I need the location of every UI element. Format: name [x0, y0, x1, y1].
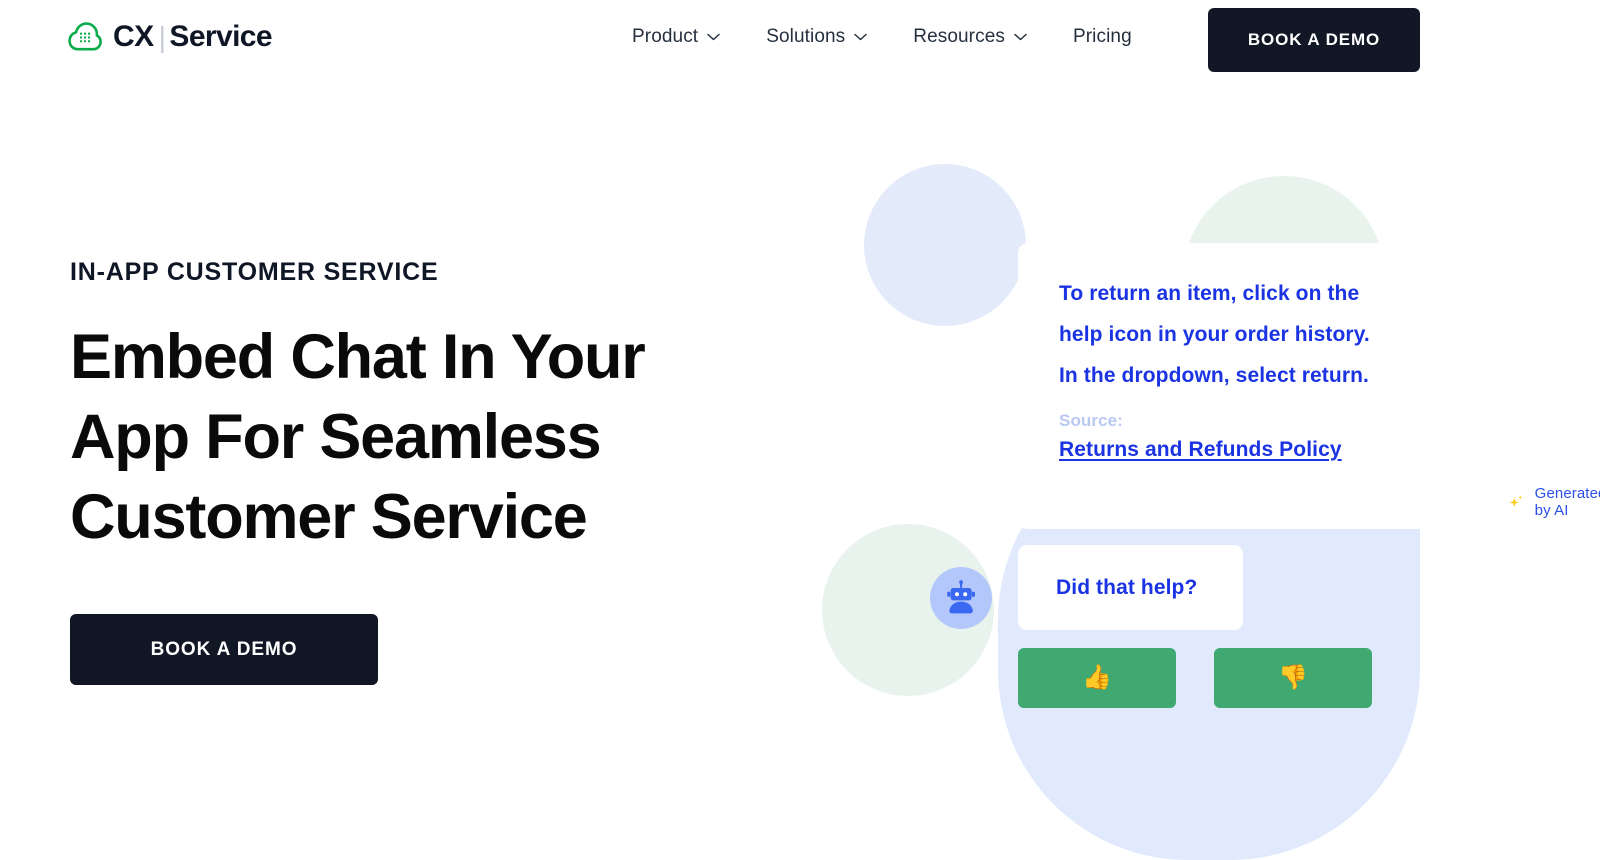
- ai-credit-text: Generated by AI: [1535, 485, 1600, 519]
- chevron-down-icon: [707, 33, 720, 41]
- answer-line-1: To return an item, click on the: [1059, 282, 1359, 305]
- chat-feedback-row: 👍 👎: [1018, 648, 1372, 708]
- thumbs-down-button[interactable]: 👎: [1214, 648, 1372, 708]
- hero-illustration: To return an item, click on the help ico…: [760, 0, 1600, 753]
- brand-name-primary: CX: [113, 20, 153, 53]
- brand-divider: |: [158, 24, 165, 53]
- nav-item-label: Product: [632, 26, 698, 48]
- chat-source-label: Source:: [1059, 411, 1123, 431]
- answer-line-2: help icon in your order history.: [1059, 323, 1370, 346]
- chat-followup-bubble: Did that help?: [1018, 545, 1243, 630]
- hero-book-a-demo-button[interactable]: BOOK A DEMO: [70, 614, 378, 685]
- bot-avatar: [930, 567, 992, 629]
- hero-text-column: IN-APP CUSTOMER SERVICE Embed Chat In Yo…: [70, 258, 750, 685]
- chat-answer-text: To return an item, click on the help ico…: [1059, 274, 1579, 397]
- thumbs-up-button[interactable]: 👍: [1018, 648, 1176, 708]
- headline-line-1: Embed Chat In Your: [70, 322, 645, 392]
- headline-line-3: Customer Service: [70, 482, 587, 552]
- chat-source-link[interactable]: Returns and Refunds Policy: [1059, 438, 1342, 462]
- hero-headline: Embed Chat In Your App For Seamless Cust…: [70, 317, 750, 557]
- cloud-grid-icon: [68, 20, 102, 54]
- headline-line-2: App For Seamless: [70, 402, 600, 472]
- decorative-blue-circle: [864, 164, 1026, 326]
- brand-logo[interactable]: CX|Service: [68, 20, 272, 54]
- sparkle-icon: [1508, 491, 1525, 513]
- chat-followup-text: Did that help?: [1056, 576, 1197, 600]
- robot-icon: [941, 578, 981, 618]
- ai-credit: Generated by AI: [1508, 485, 1600, 519]
- brand-name-secondary: Service: [169, 20, 272, 53]
- answer-line-3: In the dropdown, select return.: [1059, 364, 1369, 387]
- brand-wordmark: CX|Service: [113, 22, 272, 52]
- nav-item-product[interactable]: Product: [632, 26, 744, 48]
- chat-answer-card: To return an item, click on the help ico…: [1018, 243, 1600, 529]
- hero-eyebrow: IN-APP CUSTOMER SERVICE: [70, 258, 750, 287]
